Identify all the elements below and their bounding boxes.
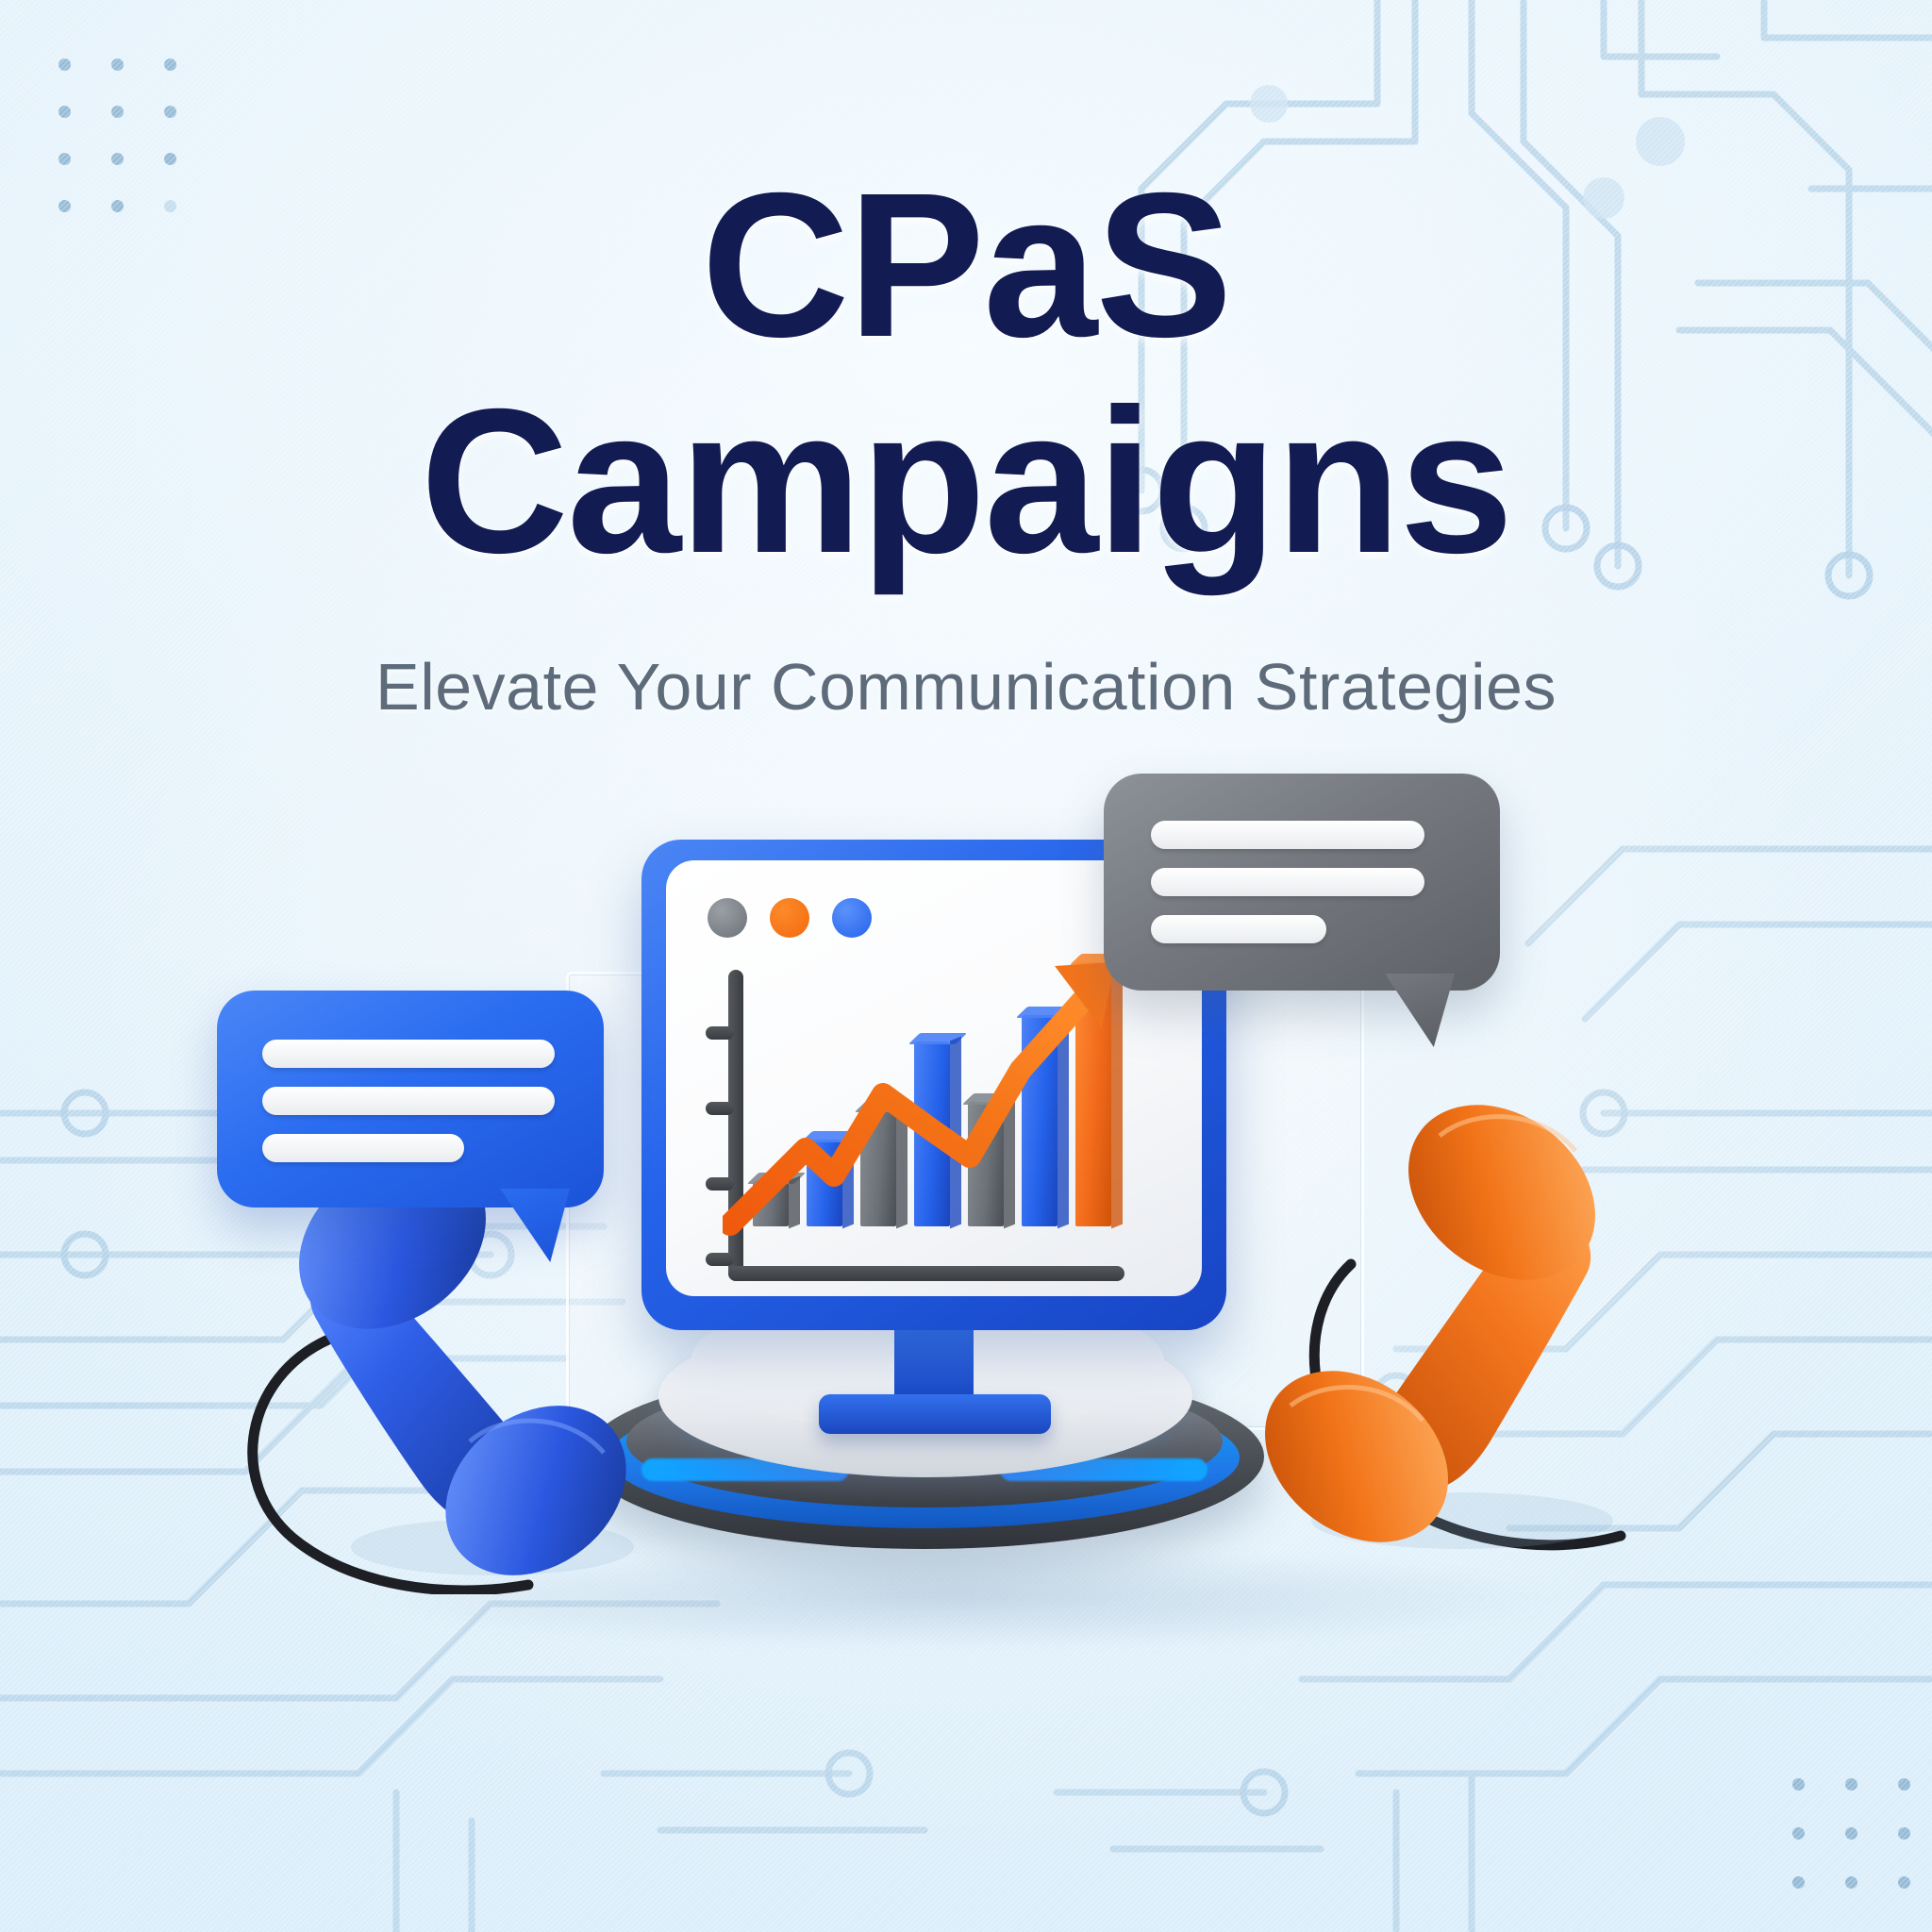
chat-bubble-blue[interactable] bbox=[217, 991, 604, 1207]
bubble-text-line bbox=[262, 1040, 555, 1068]
phone-handset-orange bbox=[1245, 1094, 1689, 1566]
bubble-text-line bbox=[1151, 868, 1424, 896]
poster-canvas: CPaS Campaigns Elevate Your Communicatio… bbox=[0, 0, 1932, 1932]
bubble-text-line bbox=[262, 1087, 555, 1115]
hero-illustration bbox=[0, 830, 1932, 1932]
phone-handset-blue bbox=[217, 1141, 660, 1594]
monitor-stand bbox=[894, 1326, 974, 1400]
page-title: CPaS Campaigns bbox=[0, 168, 1932, 579]
bubble-text-line bbox=[262, 1134, 464, 1162]
window-dot-orange-icon[interactable] bbox=[770, 898, 809, 938]
growth-trend-line bbox=[723, 945, 1166, 1285]
chat-bubble-gray[interactable] bbox=[1104, 774, 1500, 991]
window-dot-gray-icon[interactable] bbox=[708, 898, 747, 938]
window-dot-blue-icon[interactable] bbox=[832, 898, 872, 938]
bubble-text-line bbox=[1151, 915, 1326, 943]
title-line-2: Campaigns bbox=[0, 384, 1932, 579]
headline-block: CPaS Campaigns Elevate Your Communicatio… bbox=[0, 168, 1932, 724]
monitor-foot bbox=[819, 1394, 1051, 1434]
page-subtitle: Elevate Your Communication Strategies bbox=[0, 649, 1932, 724]
title-line-1: CPaS bbox=[701, 151, 1230, 380]
bubble-tail-gray bbox=[1385, 974, 1455, 1047]
bubble-text-line bbox=[1151, 821, 1424, 849]
